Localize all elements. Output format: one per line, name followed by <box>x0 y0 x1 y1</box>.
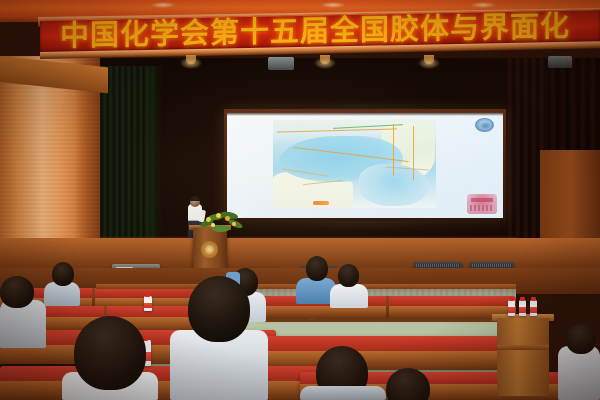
seat-divider <box>386 296 389 318</box>
attendee-head <box>338 264 359 287</box>
stage-light-fixture <box>548 56 572 68</box>
stage-light <box>424 55 434 64</box>
attendee-head <box>566 324 596 354</box>
stage-light <box>320 55 330 64</box>
university-seal-icon <box>475 118 494 132</box>
ceiling-spot-light <box>470 2 496 8</box>
ceiling-spot-light <box>320 2 346 8</box>
refreshment-side-table <box>497 318 549 396</box>
stage-light <box>186 55 196 64</box>
water-bottle[interactable] <box>144 296 152 311</box>
map-route-highlight <box>313 201 329 205</box>
auditorium-photo: 中国化学会第十五届全国胶体与界面化 <box>0 0 600 400</box>
water-bottle[interactable] <box>530 300 537 316</box>
map-road-vertical <box>413 126 414 180</box>
water-bottle[interactable] <box>508 300 515 316</box>
attendee-head <box>52 262 74 286</box>
map-road-vertical <box>393 124 394 176</box>
map-road <box>277 128 397 132</box>
stage-light-fixture <box>268 57 294 70</box>
attendee-head <box>306 256 328 281</box>
attendee-torso <box>300 386 386 400</box>
university-seal-emblem-icon <box>201 241 218 258</box>
ceiling-spot-light <box>150 2 176 8</box>
attendee-torso <box>558 346 600 400</box>
attendee-head <box>74 316 146 390</box>
floral-arrangement <box>198 210 244 236</box>
seat-row[interactable] <box>0 366 330 400</box>
projection-screen <box>227 112 503 218</box>
water-bottle[interactable] <box>519 300 526 316</box>
attendee-head <box>0 276 34 308</box>
side-table-shelf <box>497 345 549 350</box>
conference-emblem-icon <box>467 194 497 214</box>
screen-top-shadow <box>227 112 503 116</box>
attendee-torso <box>330 284 368 308</box>
presenter-hair <box>190 196 200 201</box>
slide-map-image <box>273 120 436 208</box>
attendee-head <box>188 276 250 342</box>
projection-screen-frame <box>224 109 506 221</box>
